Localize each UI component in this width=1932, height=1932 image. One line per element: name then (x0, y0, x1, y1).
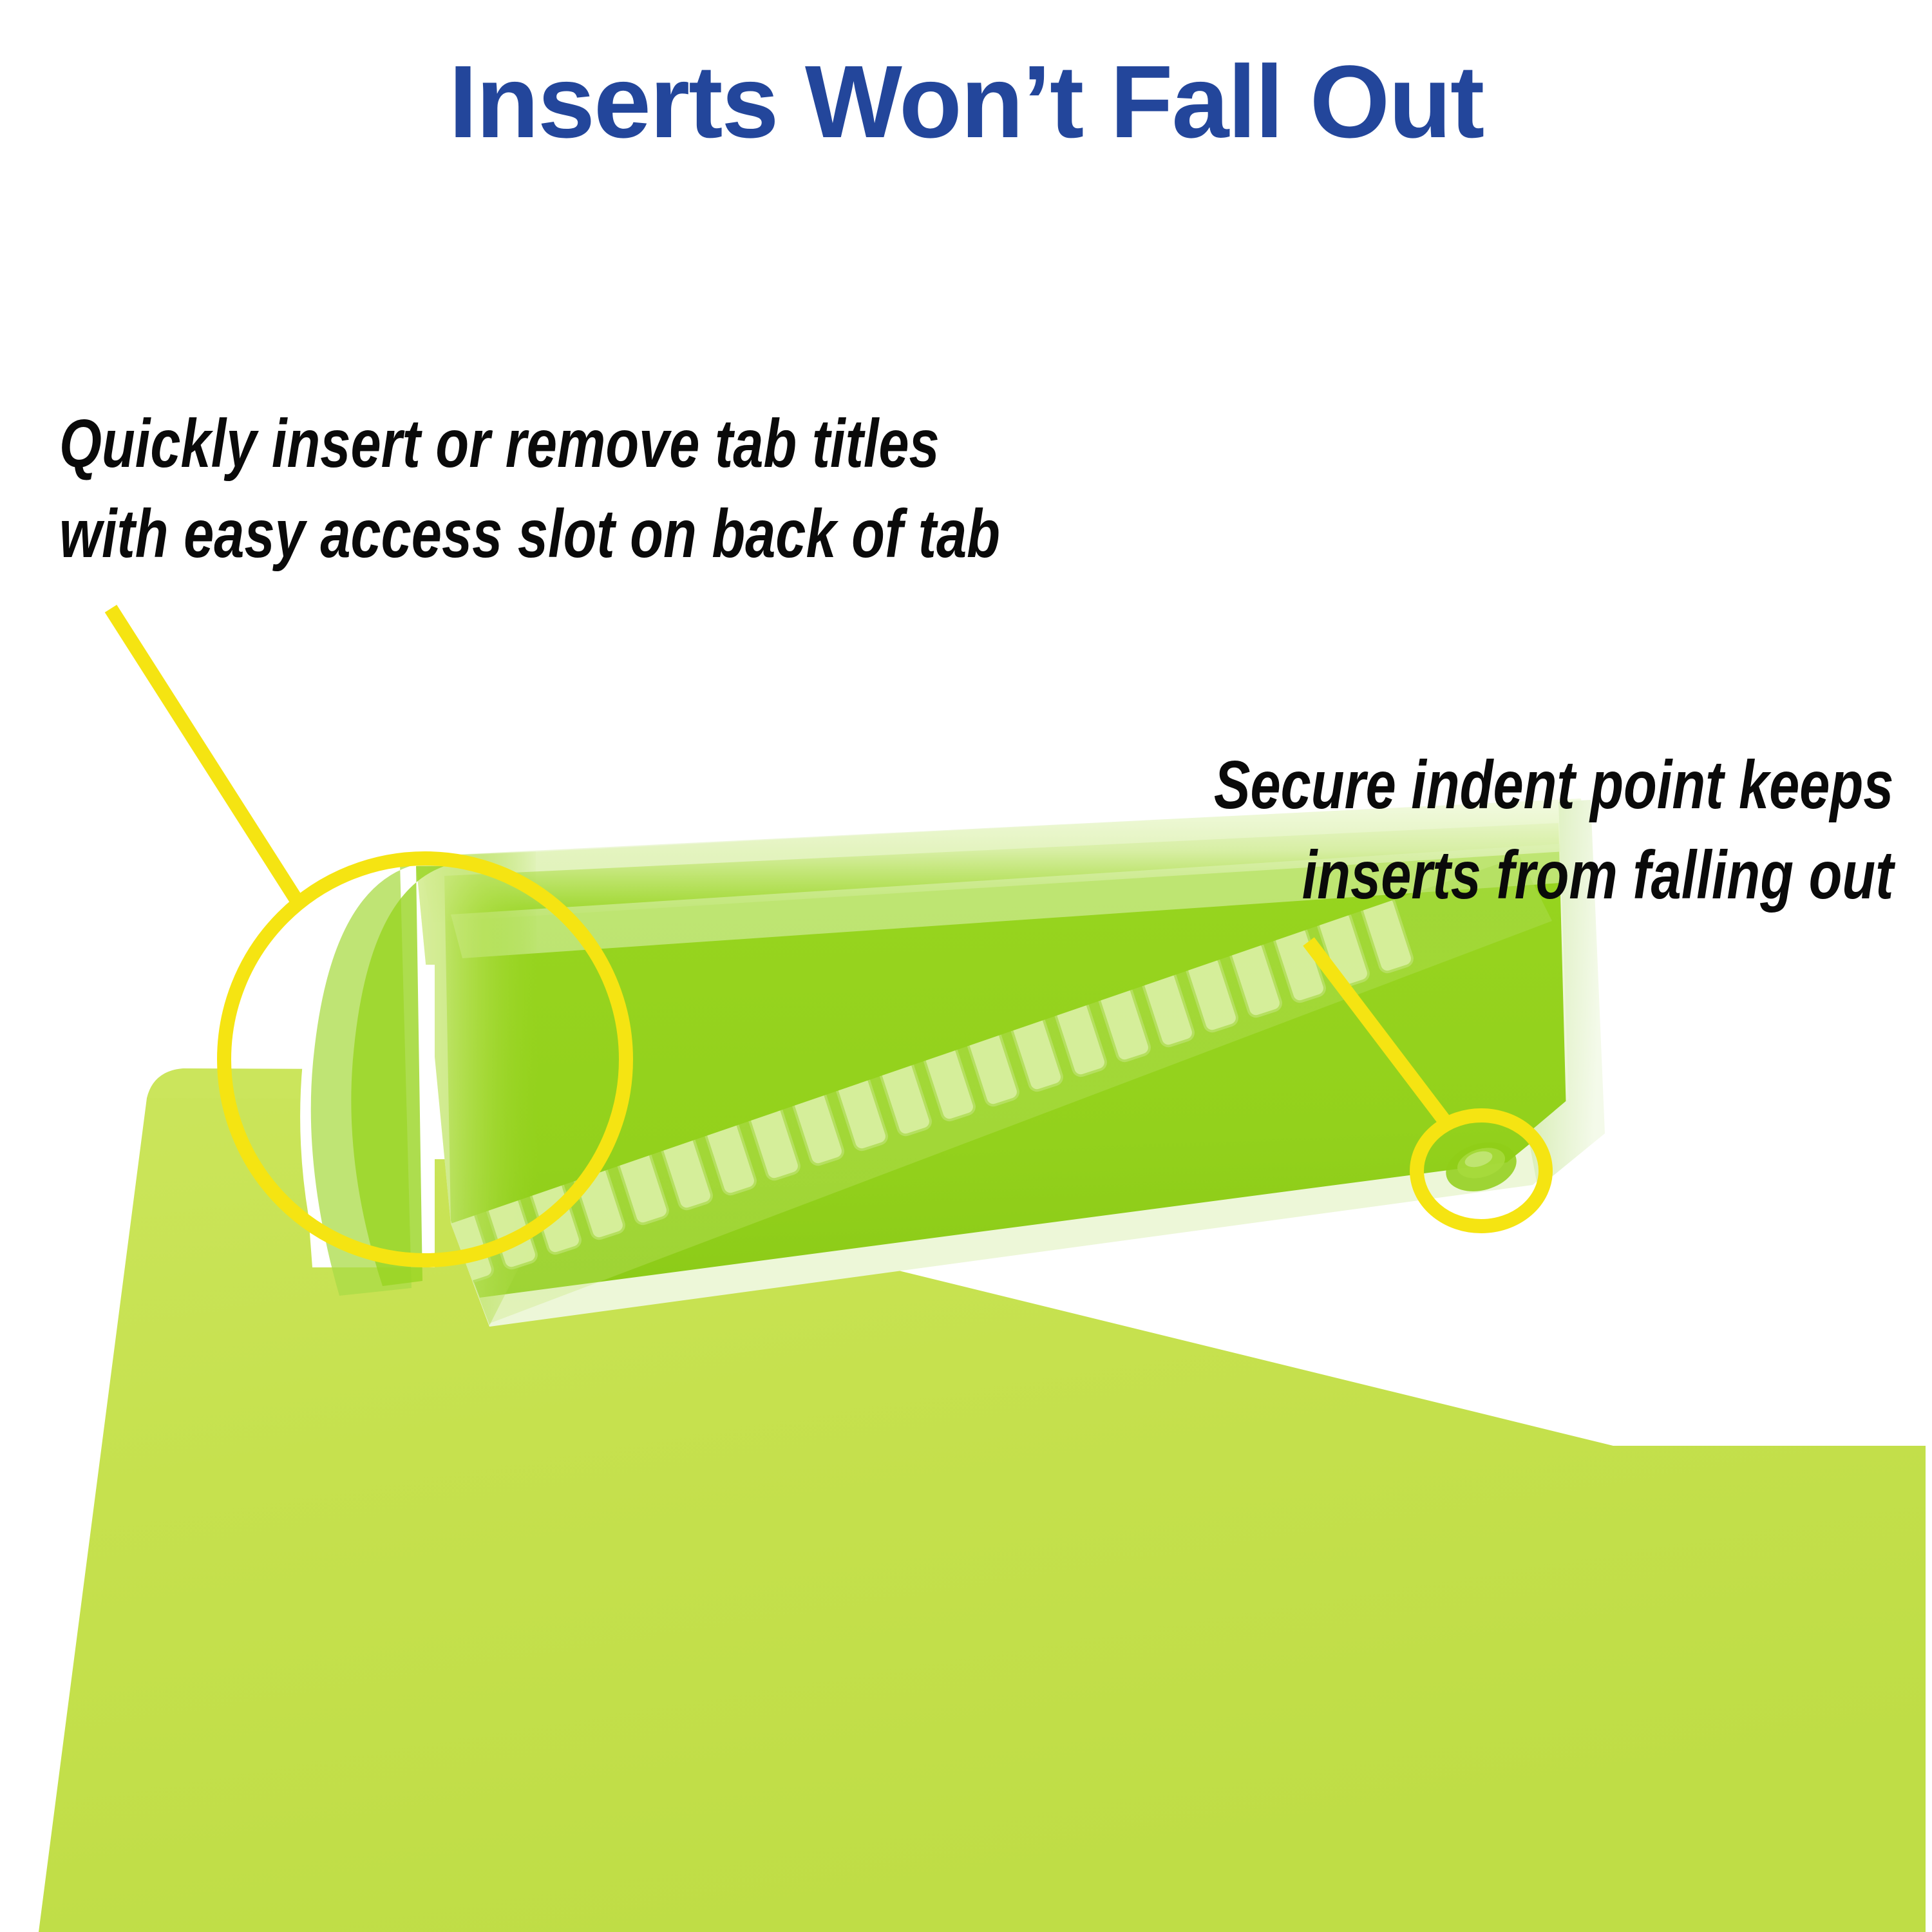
callout-left-line-2: with easy access slot on back of tab (59, 489, 1000, 580)
callout-right-line-1: Secure indent point keeps (1213, 741, 1893, 831)
callout-easy-access-slot: Quickly insert or remove tab titles with… (59, 399, 1000, 580)
infographic-canvas: Inserts Won’t Fall Out Quickly insert or… (0, 0, 1932, 1932)
page-title: Inserts Won’t Fall Out (0, 50, 1932, 153)
product-photo (0, 0, 1932, 1932)
callout-right-line-2: inserts from falling out (1213, 831, 1893, 921)
callout-left-line-1: Quickly insert or remove tab titles (59, 399, 1000, 489)
left-leader-line-icon (111, 609, 298, 902)
callout-secure-indent-point: Secure indent point keeps inserts from f… (1213, 741, 1893, 921)
